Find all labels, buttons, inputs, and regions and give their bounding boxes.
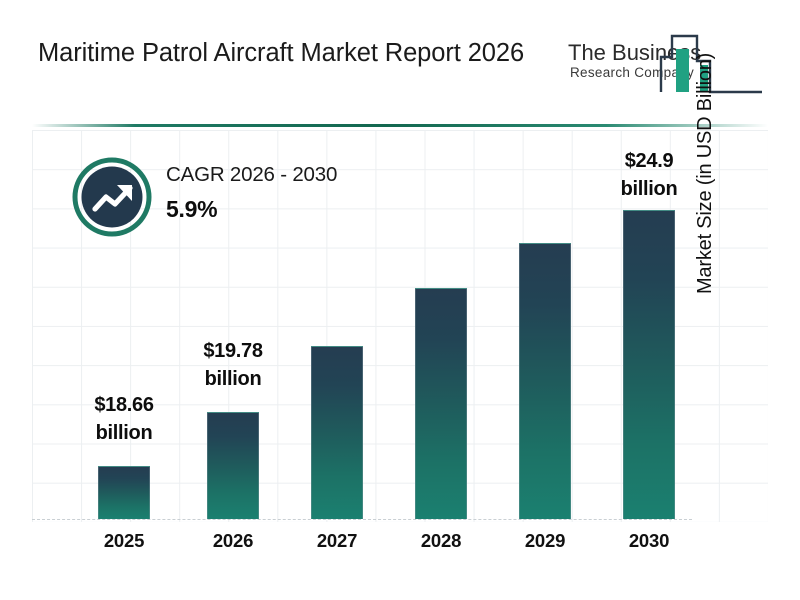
cagr-callout: CAGR 2026 - 2030 5.9% bbox=[72, 157, 402, 241]
tick-label-2026: 2026 bbox=[173, 530, 293, 552]
cagr-text-block: CAGR 2026 - 2030 5.9% bbox=[166, 163, 406, 223]
chart-page: Maritime Patrol Aircraft Market Report 2… bbox=[0, 0, 800, 600]
bar-label-2025-value: $18.66 bbox=[64, 392, 184, 420]
bar-label-2030: $24.9 billion bbox=[589, 148, 709, 203]
bar-label-2026-value: $19.78 bbox=[173, 338, 293, 366]
bar-2029[interactable] bbox=[519, 243, 571, 519]
cagr-range-label: CAGR 2026 - 2030 bbox=[166, 163, 406, 188]
bar-label-2026-unit: billion bbox=[173, 366, 293, 394]
bar-label-2030-unit: billion bbox=[589, 176, 709, 204]
bar-label-2025-unit: billion bbox=[64, 420, 184, 448]
bar-2025[interactable] bbox=[98, 466, 150, 519]
y-axis-title: Market Size (in USD Billion) bbox=[694, 0, 717, 294]
bar-2026[interactable] bbox=[207, 412, 259, 519]
bar-label-2030-value: $24.9 bbox=[589, 148, 709, 176]
tick-label-2025: 2025 bbox=[64, 530, 184, 552]
cagr-badge bbox=[72, 157, 152, 237]
tick-label-2028: 2028 bbox=[381, 530, 501, 552]
tick-label-2027: 2027 bbox=[277, 530, 397, 552]
bar-2028[interactable] bbox=[415, 288, 467, 519]
cagr-value-label: 5.9% bbox=[166, 196, 406, 224]
bar-2027[interactable] bbox=[311, 346, 363, 519]
bar-2030[interactable] bbox=[623, 210, 675, 519]
bar-series: $18.66 billion 2025 $19.78 billion 2026 … bbox=[0, 0, 800, 600]
trending-up-icon bbox=[72, 157, 152, 237]
bar-label-2025: $18.66 billion bbox=[64, 392, 184, 447]
tick-label-2029: 2029 bbox=[485, 530, 605, 552]
bar-label-2026: $19.78 billion bbox=[173, 338, 293, 393]
tick-label-2030: 2030 bbox=[589, 530, 709, 552]
